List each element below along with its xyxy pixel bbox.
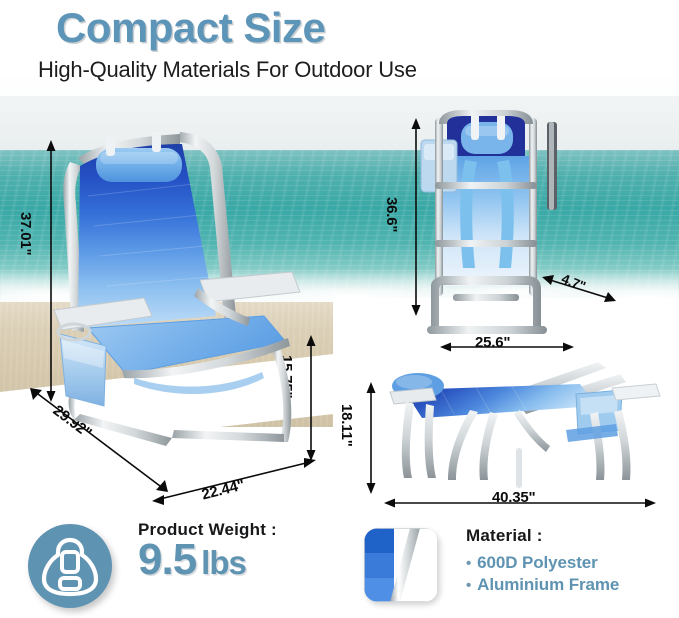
weight-value: 9.5lbs bbox=[138, 538, 277, 582]
material-item-label: 600D Polyester bbox=[477, 553, 598, 572]
dimension-line-width bbox=[152, 455, 316, 507]
weight-text-block: Product Weight : 9.5lbs bbox=[138, 520, 277, 582]
material-text-block: Material : •600D Polyester •Aluminium Fr… bbox=[466, 526, 619, 597]
dimension-line-reclined-height bbox=[360, 382, 382, 494]
material-item-label: Aluminium Frame bbox=[477, 575, 619, 594]
bullet-icon: • bbox=[466, 555, 471, 572]
chair-reclined-illustration bbox=[370, 360, 670, 500]
weight-number: 9.5 bbox=[138, 535, 196, 584]
dimension-line-folded-thickness bbox=[540, 268, 620, 308]
dimension-line-overall-height bbox=[40, 140, 62, 402]
page-title: Compact Size bbox=[56, 4, 325, 52]
dimension-label-reclined-height: 18.11" bbox=[338, 404, 355, 447]
weight-scale-icon bbox=[28, 524, 112, 608]
dimension-line-folded-width bbox=[440, 338, 574, 356]
material-list: •600D Polyester •Aluminium Frame bbox=[466, 552, 619, 597]
list-item: •600D Polyester bbox=[466, 552, 619, 574]
material-caption: Material : bbox=[466, 526, 619, 546]
dimension-line-reclined-length bbox=[384, 494, 656, 512]
dimension-line-folded-height bbox=[405, 118, 427, 316]
dimension-label-folded-height: 36.6" bbox=[383, 197, 400, 232]
infographic-page: Compact Size High-Quality Materials For … bbox=[0, 0, 679, 618]
weight-badge bbox=[28, 524, 112, 608]
material-badge bbox=[364, 528, 438, 602]
bullet-icon: • bbox=[466, 577, 471, 594]
list-item: •Aluminium Frame bbox=[466, 574, 619, 596]
info-bar: Product Weight : 9.5lbs bbox=[0, 512, 679, 618]
weight-unit: lbs bbox=[201, 544, 246, 581]
header: Compact Size High-Quality Materials For … bbox=[0, 0, 679, 96]
fabric-and-frame-icon bbox=[364, 528, 438, 602]
chair-folded-illustration bbox=[405, 108, 585, 358]
dimension-line-depth bbox=[30, 388, 170, 496]
dimension-label-overall-height: 37.01" bbox=[17, 212, 34, 255]
page-subtitle: High-Quality Materials For Outdoor Use bbox=[38, 57, 417, 83]
dimension-line-seat-height bbox=[300, 335, 322, 461]
